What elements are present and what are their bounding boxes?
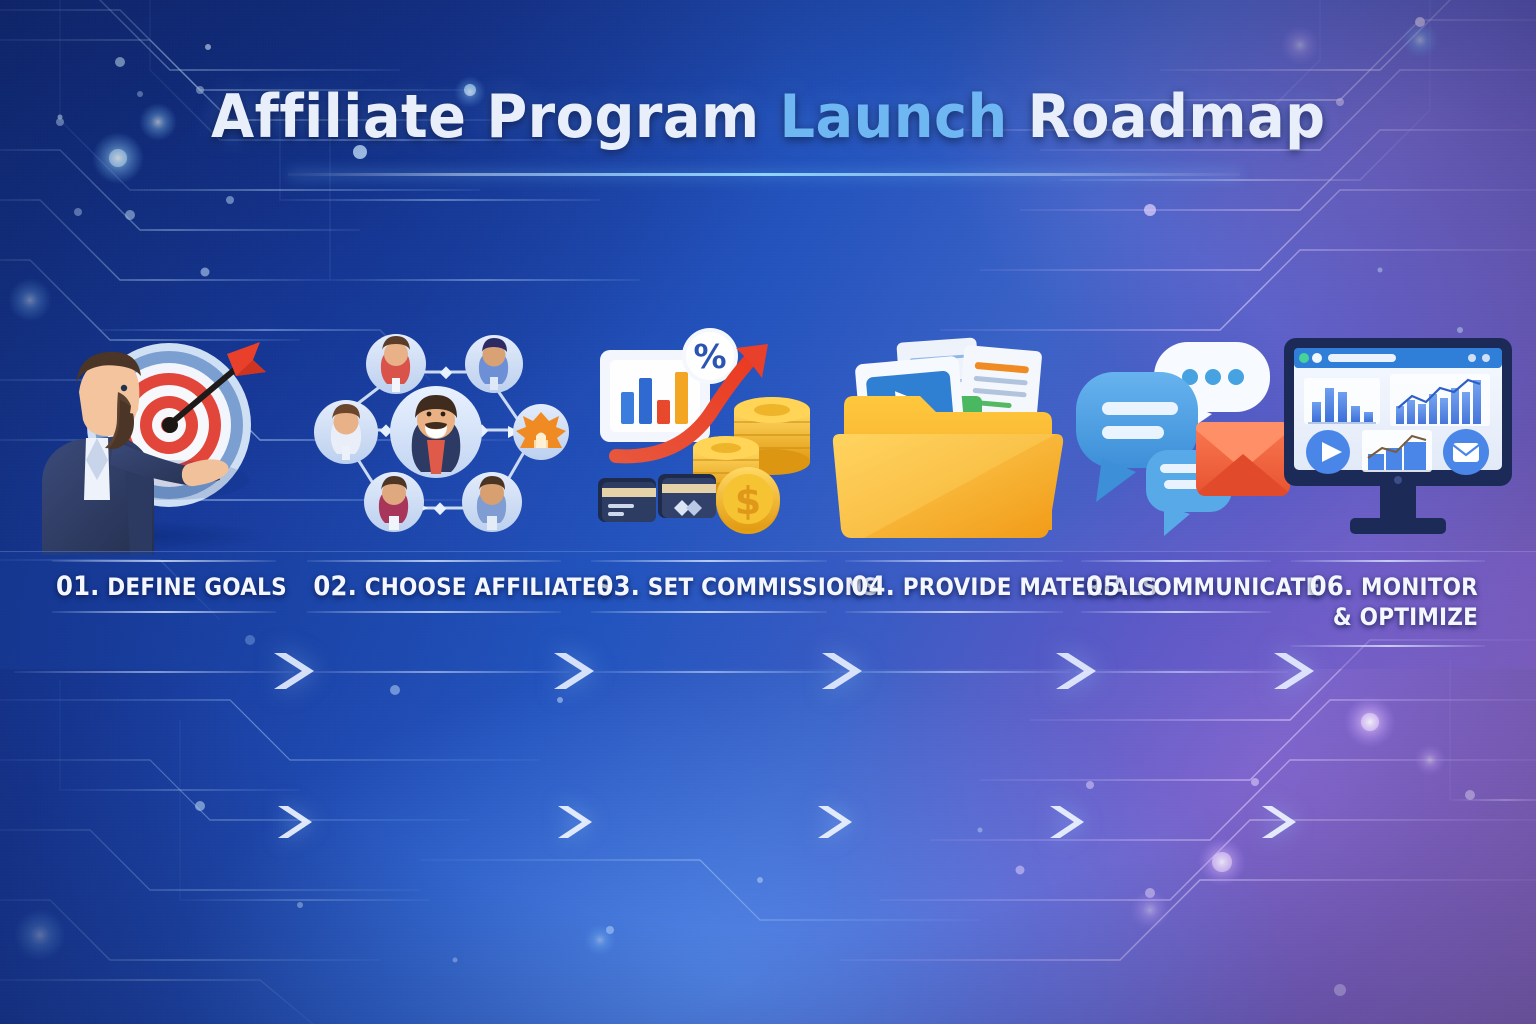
label-rule-bottom-5 xyxy=(1081,611,1271,613)
step-title-2: CHOOSE AFFILIATES xyxy=(365,573,613,601)
connector-chevron-right-icon-1 xyxy=(272,802,316,842)
track-chevron-right-icon-2 xyxy=(548,649,598,693)
title-part-one: Affiliate Program xyxy=(211,82,780,152)
step-label-3[interactable]: 03. SET COMMISSIONS xyxy=(584,560,834,613)
connector-chevron-right-icon-3 xyxy=(812,802,856,842)
step-label-text-2: 02. CHOOSE AFFILIATES xyxy=(313,562,554,611)
svg-text:$: $ xyxy=(735,479,761,523)
step-label-5[interactable]: 05. COMMUNICATE xyxy=(1076,560,1276,613)
label-rule-bottom-1 xyxy=(52,611,276,613)
step-title-1: DEFINE GOALS xyxy=(107,573,287,601)
step-icon-define-goals xyxy=(24,330,282,555)
connector-chevron-right-icon-4 xyxy=(1044,802,1088,842)
connector-chevron-right-icon-5 xyxy=(1256,802,1300,842)
step-icon-provide-materials xyxy=(838,330,1068,555)
track-line-1 xyxy=(14,671,294,673)
step-label-text-1: 01. DEFINE GOALS xyxy=(56,562,272,611)
step-label-text-3: 03. SET COMMISSIONS xyxy=(597,562,822,611)
step-number-6: 06. xyxy=(1310,571,1354,602)
track-line-3 xyxy=(584,671,836,673)
step-title-6: MONITOR & OPTIMIZE xyxy=(1333,573,1478,631)
svg-text:%: % xyxy=(693,337,726,376)
step-label-2[interactable]: 02. CHOOSE AFFILIATES xyxy=(300,560,568,613)
step-number-3: 03. xyxy=(597,571,641,602)
step-icon-set-commissions: % xyxy=(586,330,836,555)
step-label-text-5: 05. COMMUNICATE xyxy=(1086,562,1266,611)
connector-chevron-right-icon-2 xyxy=(552,802,596,842)
step-label-text-6: 06. MONITOR & OPTIMIZE xyxy=(1298,562,1478,639)
step-icon-monitor-optimize xyxy=(1276,330,1520,555)
track-line-5 xyxy=(1076,671,1288,673)
step-number-5: 05. xyxy=(1086,571,1130,602)
infographic-canvas: Affiliate Program Launch Roadmap xyxy=(0,0,1536,1024)
track-chevron-right-icon-1 xyxy=(268,649,318,693)
step-label-text-4: 04. PROVIDE MATERIALS xyxy=(851,562,1056,611)
label-rule-bottom-2 xyxy=(307,611,561,613)
step-label-1[interactable]: 01. DEFINE GOALS xyxy=(44,560,284,613)
track-chevron-right-icon-5 xyxy=(1268,649,1318,693)
title-accent-word: Launch xyxy=(779,82,1007,152)
title-part-two: Roadmap xyxy=(1007,82,1325,152)
step-icon-communicate xyxy=(1068,330,1300,555)
step-number-2: 02. xyxy=(313,571,357,602)
step-number-4: 04. xyxy=(851,571,895,602)
page-title: Affiliate Program Launch Roadmap xyxy=(0,82,1536,152)
title-underline xyxy=(288,173,1240,176)
progress-arrow-track xyxy=(0,645,1536,705)
label-rule-bottom-4 xyxy=(845,611,1063,613)
step-label-6[interactable]: 06. MONITOR & OPTIMIZE xyxy=(1288,560,1488,647)
step-label-4[interactable]: 04. PROVIDE MATERIALS xyxy=(840,560,1068,613)
track-line-4 xyxy=(840,671,1070,673)
step-number-1: 01. xyxy=(56,571,100,602)
step-icon-choose-affiliates xyxy=(296,330,568,555)
track-chevron-right-icon-3 xyxy=(816,649,866,693)
label-rule-bottom-3 xyxy=(591,611,827,613)
track-line-2 xyxy=(300,671,570,673)
track-chevron-right-icon-4 xyxy=(1050,649,1100,693)
icon-row: % xyxy=(0,330,1536,555)
